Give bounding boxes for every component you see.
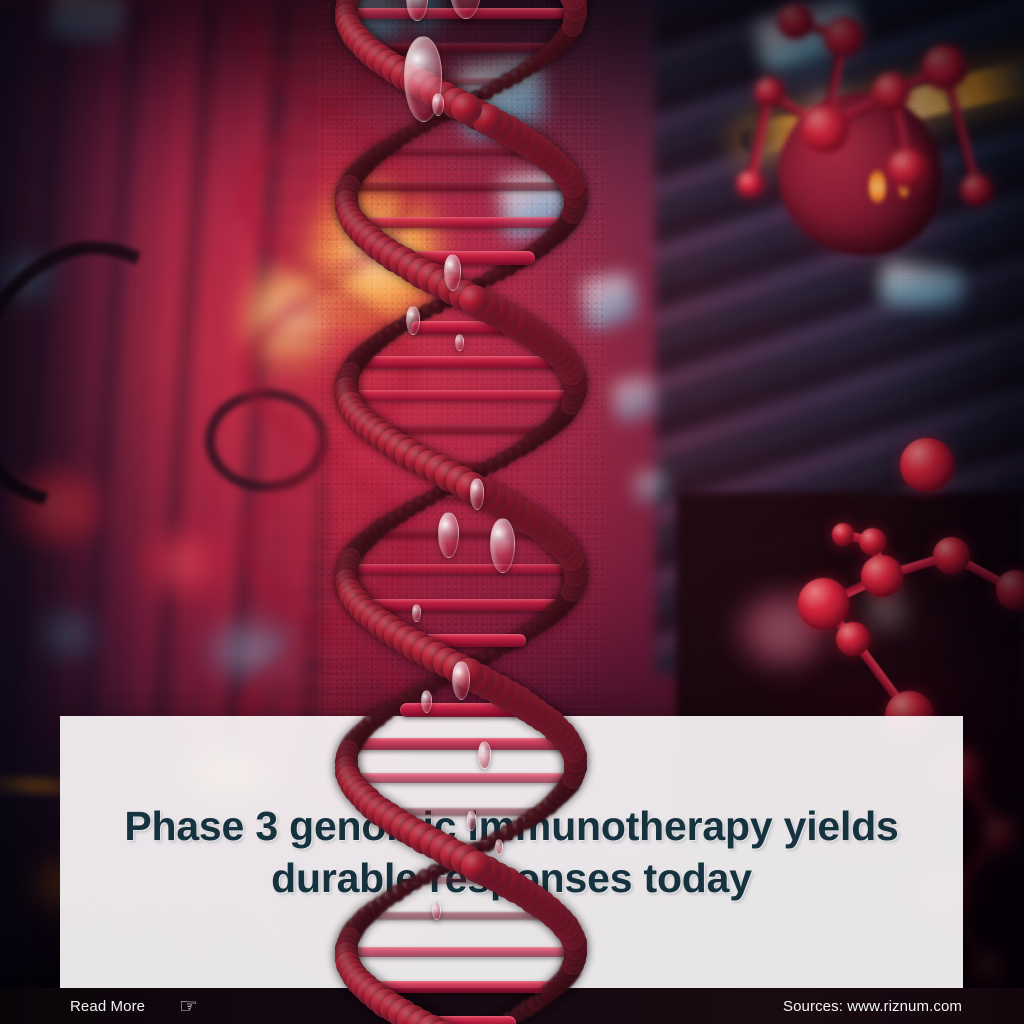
dna-backbone-blurred: [299, 90, 313, 104]
dna-backbone-blurred: [278, 480, 292, 494]
dna-base-pair: [371, 912, 551, 920]
molecule-atom: [859, 528, 886, 555]
molecule-atom: [755, 77, 784, 106]
dna-backbone-segment: [461, 851, 492, 882]
molecule-atom: [801, 105, 849, 153]
dna-backbone-blurred: [301, 117, 315, 131]
molecule-atom: [778, 4, 813, 39]
molecule-atom: [798, 578, 850, 630]
molecule-atom: [922, 45, 967, 90]
dna-base-pair: [346, 390, 575, 400]
molecule-atom: [984, 818, 1018, 852]
read-more-label[interactable]: Read More: [70, 998, 145, 1015]
news-card-image: Phase 3 genomic immunotherapy yields dur…: [0, 0, 1024, 1024]
water-droplet: [421, 690, 432, 713]
water-droplet: [438, 512, 459, 558]
pointing-hand-right-icon[interactable]: ☞: [179, 996, 198, 1017]
sources-label[interactable]: Sources: www.riznum.com: [783, 998, 962, 1015]
molecule-atom: [970, 953, 1010, 993]
dna-backbone-blurred: [286, 647, 300, 661]
water-droplet: [495, 839, 502, 855]
read-more-group[interactable]: Read More ☞: [70, 996, 198, 1017]
dna-backbone-blurred: [302, 610, 316, 624]
water-droplet: [432, 902, 441, 920]
dna-base-pair: [347, 947, 576, 957]
dna-base-pair: [351, 182, 571, 192]
dna-backbone-blurred: [291, 471, 305, 485]
dna-backbone-blurred: [284, 424, 298, 438]
molecule-atom: [824, 17, 864, 57]
dna-base-pair: [355, 599, 568, 611]
molecule-structure-top-right: [737, 0, 1003, 307]
dna-base-pair: [362, 356, 559, 368]
dna-backbone-blurred: [304, 461, 318, 475]
molecule-atom: [933, 537, 970, 574]
molecule-atom: [996, 570, 1024, 609]
dna-backbone-blurred: [289, 601, 303, 615]
bokeh-glow-red: [143, 532, 225, 593]
dna-base-pair: [351, 217, 571, 229]
water-droplet: [432, 93, 443, 116]
dna-backbone-blurred: [304, 266, 318, 280]
water-droplet: [478, 741, 491, 769]
dna-backbone-blurred: [296, 294, 310, 308]
dna-base-pair: [348, 564, 573, 574]
molecule-atom: [900, 438, 954, 492]
molecule-atom: [888, 149, 928, 189]
molecule-atom: [873, 73, 910, 110]
molecule-atom: [861, 555, 903, 597]
water-droplet: [490, 518, 515, 573]
dna-base-pair: [347, 773, 574, 783]
dna-backbone-blurred: [283, 303, 297, 317]
molecule-atom: [961, 174, 993, 206]
ceiling-light-panel: [611, 376, 658, 423]
dna-backbone-blurred: [299, 638, 313, 652]
water-droplet: [455, 334, 464, 351]
molecule-atom: [832, 523, 854, 545]
dna-backbone-blurred: [279, 248, 293, 262]
dna-backbone-blurred: [272, 415, 286, 429]
dna-backbone-segment: [459, 285, 490, 316]
ceiling-light-panel: [632, 469, 668, 505]
dna-backbone-blurred: [288, 127, 302, 141]
dna-backbone-blurred: [291, 257, 305, 271]
molecule-atom: [737, 171, 764, 198]
water-droplet: [412, 604, 421, 622]
dna-backbone-blurred: [296, 433, 310, 447]
dna-base-pair: [357, 738, 566, 750]
molecule-atom: [836, 622, 870, 656]
water-droplet: [452, 661, 470, 700]
